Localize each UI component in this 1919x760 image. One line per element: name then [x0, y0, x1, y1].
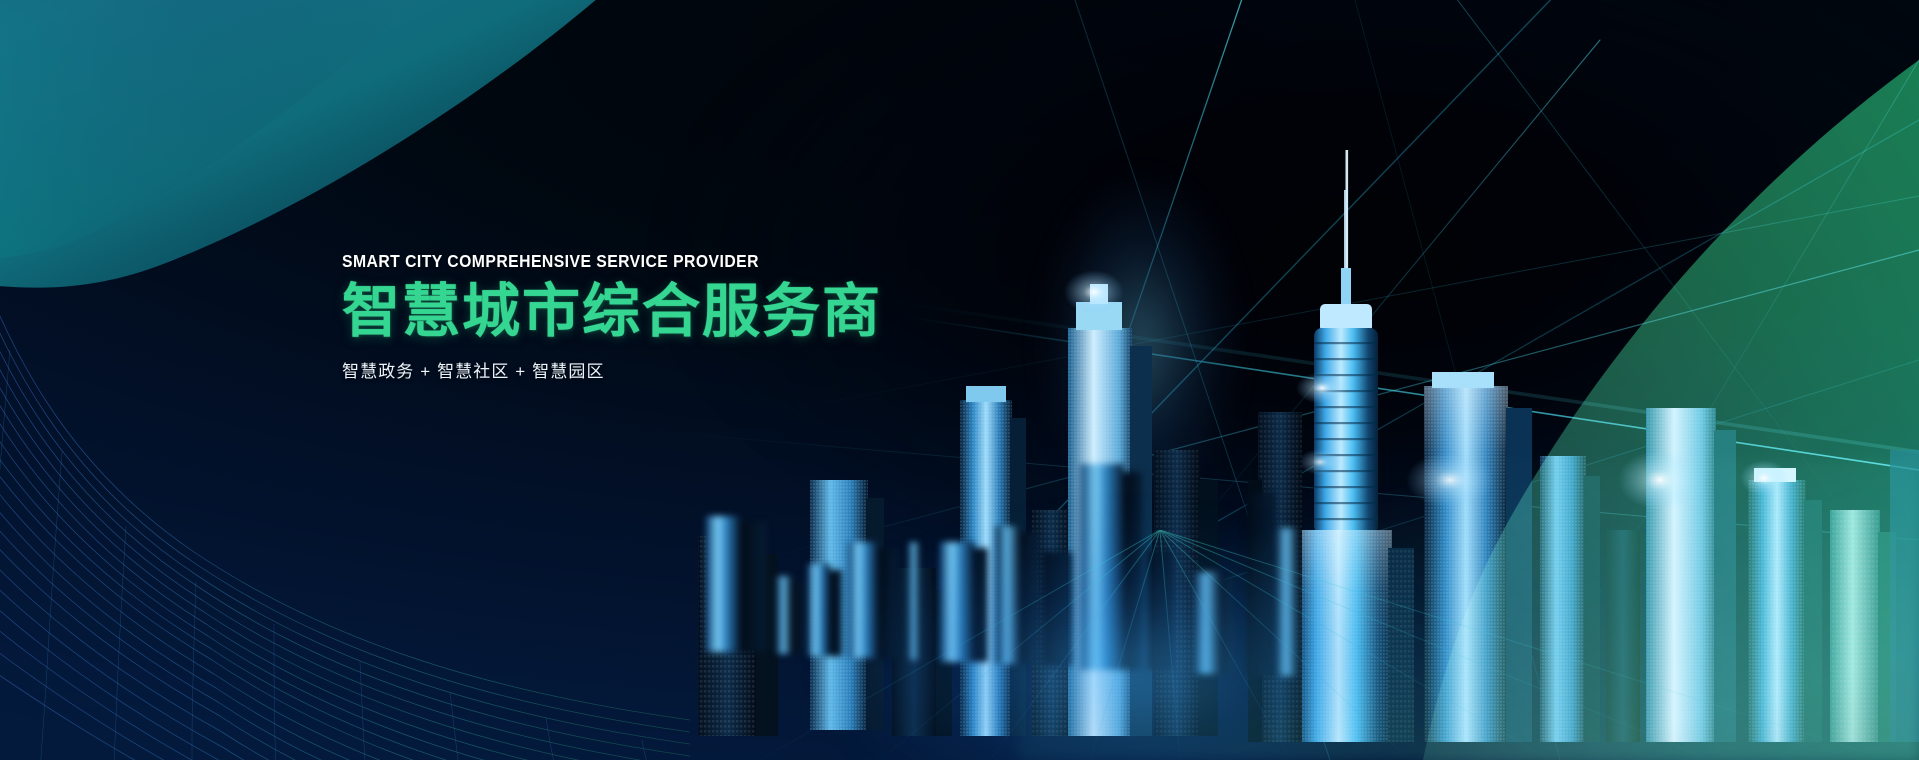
banner-headline: 智慧城市综合服务商 — [342, 280, 902, 345]
banner-text-block: SMART CITY COMPREHENSIVE SERVICE PROVIDE… — [342, 252, 902, 382]
banner-subline: 智慧政务 + 智慧社区 + 智慧园区 — [342, 357, 902, 382]
smart-city-banner: SMART CITY COMPREHENSIVE SERVICE PROVIDE… — [0, 0, 1919, 760]
green-bottom-haze — [1019, 460, 1919, 760]
banner-eyebrow: SMART CITY COMPREHENSIVE SERVICE PROVIDE… — [342, 252, 846, 271]
